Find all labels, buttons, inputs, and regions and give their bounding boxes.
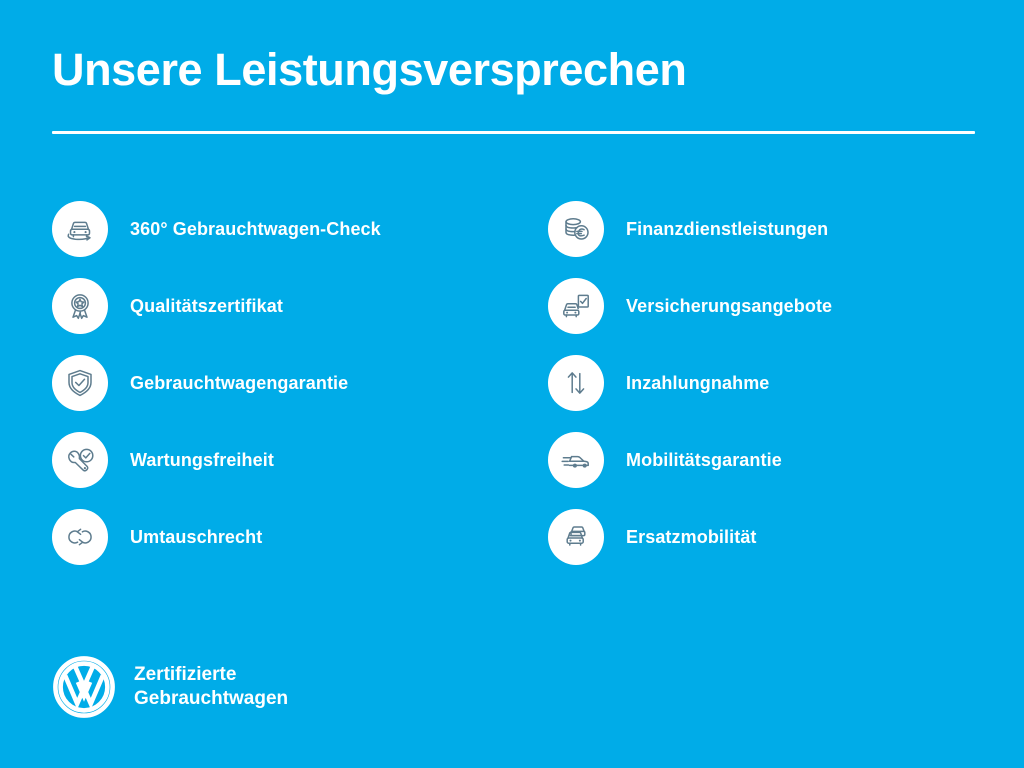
car-motion-icon [548,432,604,488]
page-title: Unsere Leistungsversprechen [52,46,976,94]
feature-item-qualitaetszertifikat[interactable]: Qualitätszertifikat [52,278,480,334]
feature-item-finanzdienstleistungen[interactable]: Finanzdienstleistungen [548,201,976,257]
brand-text-line1: Zertifizierte [134,663,288,687]
feature-label: Versicherungsangebote [626,296,832,317]
feature-label: Inzahlungnahme [626,373,769,394]
feature-grid: 360° Gebrauchtwagen-Check Qualitätszerti… [52,201,976,565]
award-rosette-icon [52,278,108,334]
feature-item-mobilitaetsgarantie[interactable]: Mobilitätsgarantie [548,432,976,488]
feature-label: Gebrauchtwagengarantie [130,373,348,394]
car-360-check-icon [52,201,108,257]
feature-item-inzahlungnahme[interactable]: Inzahlungnahme [548,355,976,411]
brand-lockup: Zertifizierte Gebrauchtwagen [52,655,288,719]
feature-item-versicherungsangebote[interactable]: Versicherungsangebote [548,278,976,334]
feature-label: Mobilitätsgarantie [626,450,782,471]
brand-text: Zertifizierte Gebrauchtwagen [134,663,288,711]
shield-check-icon [52,355,108,411]
feature-label: Wartungsfreiheit [130,450,274,471]
car-document-check-icon [548,278,604,334]
slide-header: Unsere Leistungsversprechen [52,46,976,94]
feature-column-left: 360° Gebrauchtwagen-Check Qualitätszerti… [52,201,480,565]
feature-item-wartungsfreiheit[interactable]: Wartungsfreiheit [52,432,480,488]
coins-euro-icon [548,201,604,257]
feature-item-ersatzmobilitaet[interactable]: Ersatzmobilität [548,509,976,565]
arrows-up-down-icon [548,355,604,411]
exchange-arrows-icon [52,509,108,565]
feature-item-umtauschrecht[interactable]: Umtauschrecht [52,509,480,565]
feature-label: Ersatzmobilität [626,527,757,548]
two-cars-icon [548,509,604,565]
feature-label: 360° Gebrauchtwagen-Check [130,219,381,240]
feature-label: Finanzdienstleistungen [626,219,828,240]
title-divider [52,131,975,134]
promise-slide: Unsere Leistungsversprechen [0,0,1024,768]
wrench-check-icon [52,432,108,488]
feature-column-right: Finanzdienstleistungen Versicheru [548,201,976,565]
brand-text-line2: Gebrauchtwagen [134,687,288,711]
feature-item-gebrauchtwagen-check[interactable]: 360° Gebrauchtwagen-Check [52,201,480,257]
feature-label: Umtauschrecht [130,527,262,548]
feature-item-gebrauchtwagengarantie[interactable]: Gebrauchtwagengarantie [52,355,480,411]
feature-label: Qualitätszertifikat [130,296,283,317]
volkswagen-logo-icon [52,655,116,719]
